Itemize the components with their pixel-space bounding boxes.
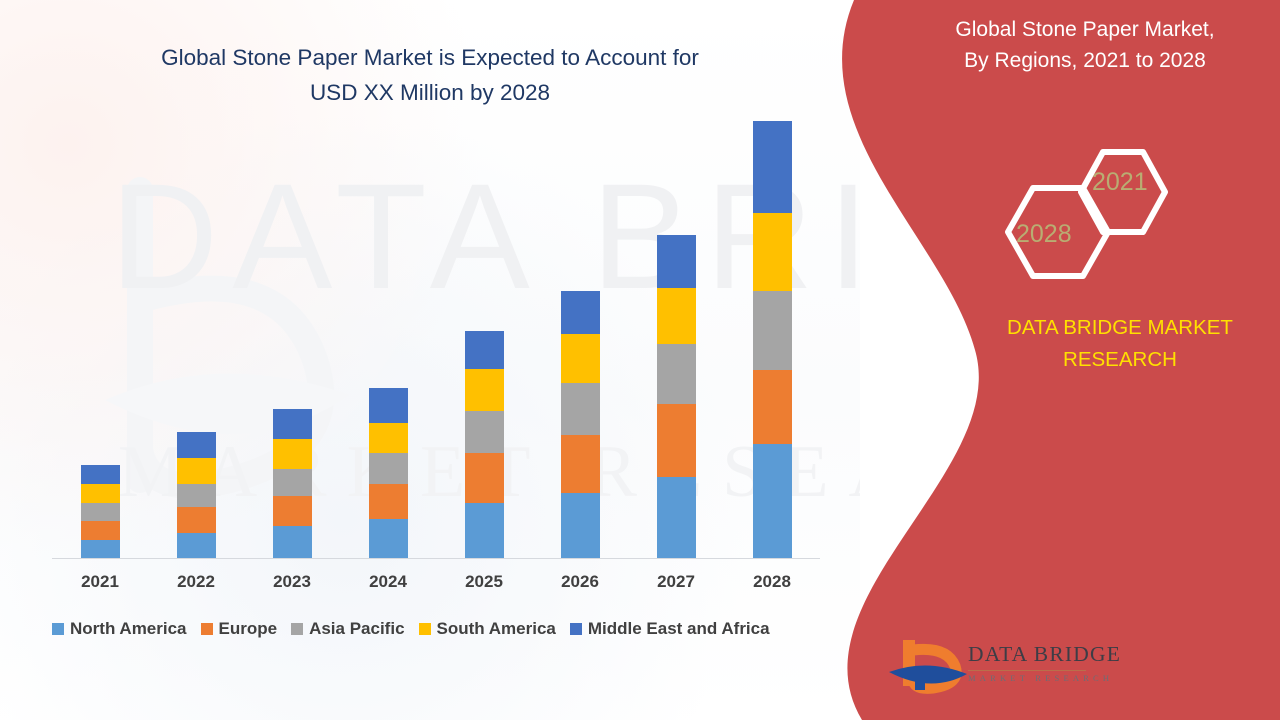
bar-segment bbox=[753, 291, 792, 370]
legend-swatch-icon bbox=[419, 623, 431, 635]
x-tick-label-2024: 2024 bbox=[348, 572, 428, 592]
bar-segment bbox=[81, 540, 120, 559]
bar-chart-plot-area bbox=[52, 120, 820, 559]
bar-segment bbox=[465, 411, 504, 453]
bar-segment bbox=[81, 503, 120, 522]
brand-line-2: RESEARCH bbox=[970, 344, 1270, 376]
bar-segment bbox=[561, 291, 600, 333]
bar-segment bbox=[81, 465, 120, 484]
x-tick-label-2027: 2027 bbox=[636, 572, 716, 592]
hexagon-label-2021: 2021 bbox=[1092, 168, 1148, 197]
bar-2025 bbox=[465, 331, 504, 559]
legend-item-europe[interactable]: Europe bbox=[201, 619, 278, 639]
legend-label: Europe bbox=[219, 619, 278, 639]
panel-title-line-2: By Regions, 2021 to 2028 bbox=[905, 45, 1265, 76]
bar-segment bbox=[561, 383, 600, 435]
hexagon-label-2028: 2028 bbox=[1016, 220, 1072, 249]
x-axis-tick-labels: 20212022202320242025202620272028 bbox=[52, 572, 820, 602]
bar-segment bbox=[561, 493, 600, 559]
bar-segment bbox=[177, 507, 216, 533]
bar-segment bbox=[177, 432, 216, 458]
bar-2028 bbox=[753, 121, 792, 559]
bar-2027 bbox=[657, 235, 696, 559]
brand-line-1: DATA BRIDGE MARKET bbox=[970, 312, 1270, 344]
chart-legend: North AmericaEuropeAsia PacificSouth Ame… bbox=[52, 616, 832, 642]
legend-swatch-icon bbox=[52, 623, 64, 635]
bar-2024 bbox=[369, 388, 408, 559]
panel-title: Global Stone Paper Market, By Regions, 2… bbox=[905, 14, 1265, 76]
logo-subtitle: MARKET RESEARCH bbox=[968, 673, 1113, 683]
bar-segment bbox=[177, 458, 216, 484]
bar-segment bbox=[273, 469, 312, 496]
bar-2026 bbox=[561, 291, 600, 559]
bar-segment bbox=[81, 521, 120, 540]
x-tick-label-2025: 2025 bbox=[444, 572, 524, 592]
bar-segment bbox=[273, 409, 312, 440]
bar-2021 bbox=[81, 465, 120, 559]
chart-title: Global Stone Paper Market is Expected to… bbox=[60, 40, 800, 110]
logo-title: DATA BRIDGE bbox=[968, 642, 1121, 667]
bar-segment bbox=[657, 235, 696, 288]
bar-segment bbox=[753, 370, 792, 444]
bar-segment bbox=[177, 484, 216, 507]
legend-item-asia-pacific[interactable]: Asia Pacific bbox=[291, 619, 404, 639]
x-tick-label-2023: 2023 bbox=[252, 572, 332, 592]
legend-item-middle-east-and-africa[interactable]: Middle East and Africa bbox=[570, 619, 770, 639]
bar-segment bbox=[273, 496, 312, 527]
legend-item-south-america[interactable]: South America bbox=[419, 619, 556, 639]
bar-segment bbox=[465, 453, 504, 502]
logo-divider bbox=[968, 670, 1086, 671]
bar-segment bbox=[657, 288, 696, 344]
legend-label: North America bbox=[70, 619, 187, 639]
bar-segment bbox=[561, 334, 600, 383]
legend-label: Middle East and Africa bbox=[588, 619, 770, 639]
bar-segment bbox=[369, 423, 408, 454]
bar-2023 bbox=[273, 409, 312, 559]
bar-segment bbox=[657, 477, 696, 559]
bar-segment bbox=[81, 484, 120, 503]
bar-segment bbox=[465, 331, 504, 369]
bar-segment bbox=[369, 453, 408, 484]
hexagon-outlines-icon bbox=[975, 140, 1205, 300]
legend-swatch-icon bbox=[201, 623, 213, 635]
bar-segment bbox=[753, 213, 792, 292]
legend-swatch-icon bbox=[291, 623, 303, 635]
bar-segment bbox=[465, 369, 504, 411]
panel-title-line-1: Global Stone Paper Market, bbox=[905, 14, 1265, 45]
hexagon-group bbox=[975, 140, 1205, 300]
x-tick-label-2028: 2028 bbox=[732, 572, 812, 592]
bar-segment bbox=[657, 404, 696, 477]
legend-item-north-america[interactable]: North America bbox=[52, 619, 187, 639]
slide-canvas: DATA BRIDGE MARKET RESEARCH Global Stone… bbox=[0, 0, 1280, 720]
legend-label: Asia Pacific bbox=[309, 619, 404, 639]
legend-label: South America bbox=[437, 619, 556, 639]
bar-segment bbox=[369, 519, 408, 559]
x-tick-label-2021: 2021 bbox=[60, 572, 140, 592]
x-tick-label-2026: 2026 bbox=[540, 572, 620, 592]
bar-2022 bbox=[177, 432, 216, 559]
bar-segment bbox=[657, 344, 696, 404]
legend-swatch-icon bbox=[570, 623, 582, 635]
bar-segment bbox=[273, 526, 312, 559]
bar-segment bbox=[465, 503, 504, 559]
chart-title-line-1: Global Stone Paper Market is Expected to… bbox=[60, 40, 800, 75]
x-axis-line bbox=[52, 558, 820, 559]
brand-name: DATA BRIDGE MARKET RESEARCH bbox=[970, 312, 1270, 376]
x-tick-label-2022: 2022 bbox=[156, 572, 236, 592]
bar-segment bbox=[369, 388, 408, 423]
bar-segment bbox=[177, 533, 216, 559]
bar-segment bbox=[369, 484, 408, 519]
bar-segment bbox=[753, 121, 792, 213]
chart-title-line-2: USD XX Million by 2028 bbox=[60, 75, 800, 110]
bar-segment bbox=[273, 439, 312, 468]
bar-segment bbox=[561, 435, 600, 494]
bar-segment bbox=[753, 444, 792, 559]
